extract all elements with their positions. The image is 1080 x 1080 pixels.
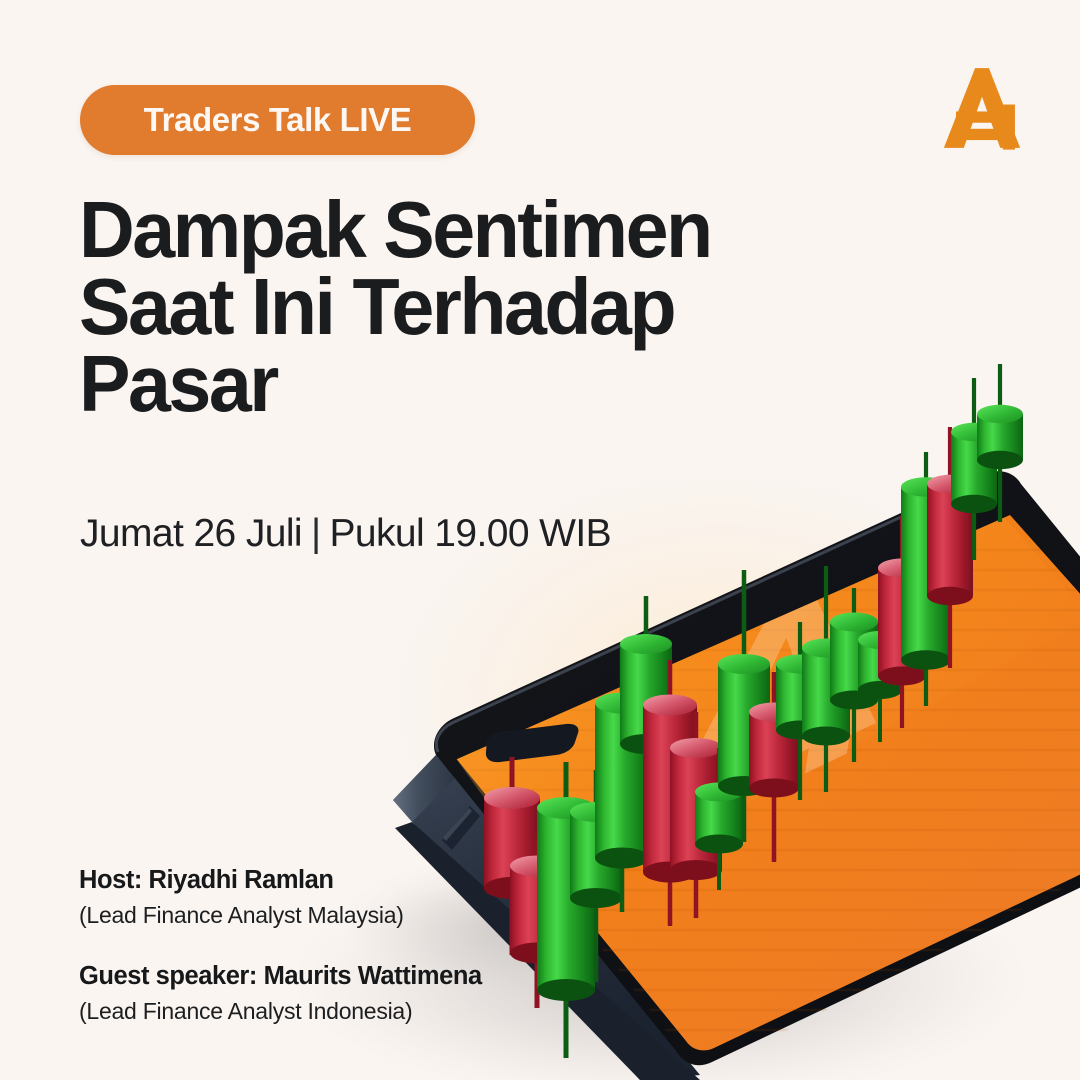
brand-logo-icon: [930, 56, 1034, 160]
host-entry: Host: Riyadhi Ramlan (Lead Finance Analy…: [79, 864, 482, 930]
page-title: Dampak Sentimen Saat Ini Terhadap Pasar: [79, 192, 812, 422]
guest-role: (Lead Finance Analyst Indonesia): [79, 996, 482, 1027]
schedule-separator: |: [311, 512, 321, 556]
host-role: (Lead Finance Analyst Malaysia): [79, 900, 482, 931]
schedule-time: Pukul 19.00 WIB: [330, 512, 611, 555]
guest-name: Guest speaker: Maurits Wattimena: [79, 960, 482, 993]
host-name: Host: Riyadhi Ramlan: [79, 864, 482, 897]
live-badge-label: Traders Talk LIVE: [144, 101, 412, 139]
guest-entry: Guest speaker: Maurits Wattimena (Lead F…: [79, 960, 482, 1026]
promo-poster: Traders Talk LIVE Dampak Sentimen Saat I…: [0, 0, 1080, 1080]
headline-line-1: Dampak Sentimen: [79, 192, 812, 269]
live-badge[interactable]: Traders Talk LIVE: [80, 85, 475, 155]
schedule-line: Jumat 26 Juli|Pukul 19.00 WIB: [80, 512, 611, 556]
speakers-block: Host: Riyadhi Ramlan (Lead Finance Analy…: [79, 864, 482, 1027]
headline-line-3: Pasar: [79, 346, 812, 423]
headline-line-2: Saat Ini Terhadap: [79, 269, 812, 346]
schedule-date: Jumat 26 Juli: [80, 512, 302, 555]
